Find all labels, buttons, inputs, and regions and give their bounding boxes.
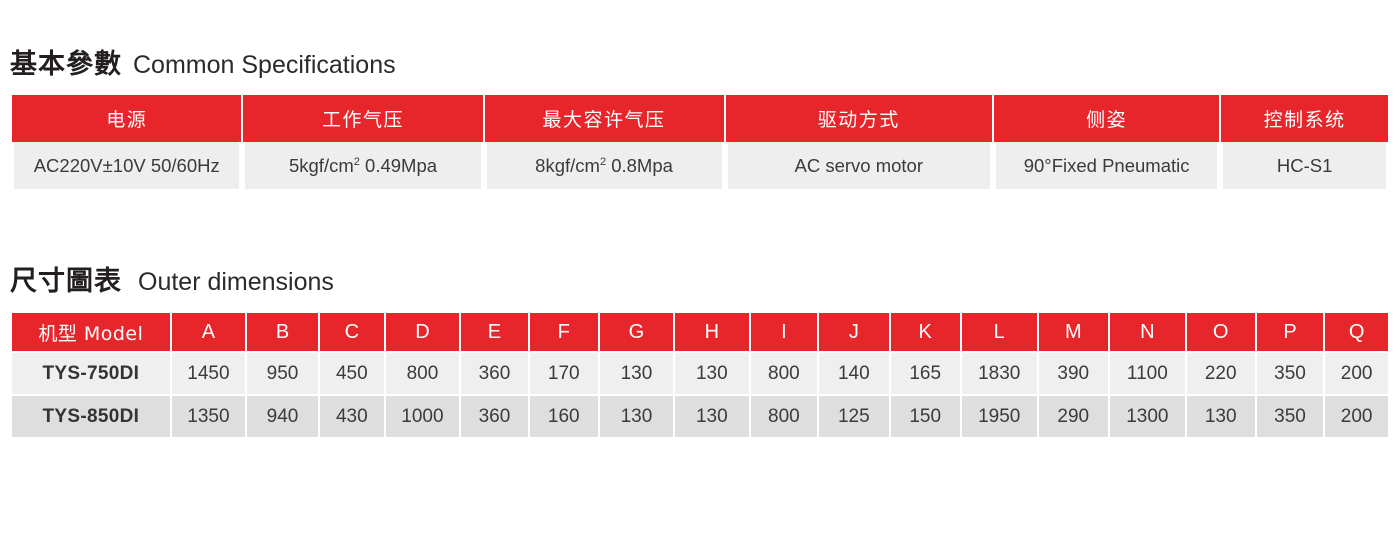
dimensions-column-header-C: C <box>320 313 384 351</box>
dimensions-heading-cn: 尺寸圖表 <box>10 259 122 298</box>
dimensions-column-header-Q: Q <box>1325 313 1388 351</box>
dimensions-column-header-J: J <box>819 313 888 351</box>
dimensions-value-cell: 1000 <box>386 396 459 437</box>
specifications-heading: 基本參數 Common Specifications <box>10 42 1390 81</box>
dimensions-column-header-I: I <box>751 313 818 351</box>
spec-column-header: 最大容许气压 <box>485 95 724 142</box>
dimensions-value-cell: 200 <box>1325 353 1388 394</box>
specifications-heading-cn: 基本參數 <box>10 42 122 81</box>
dimensions-table-row: TYS-850DI1350940430100036016013013080012… <box>12 396 1388 437</box>
dimensions-column-header-L: L <box>962 313 1037 351</box>
dimensions-value-cell: 940 <box>247 396 318 437</box>
dimensions-model-cell: TYS-750DI <box>12 353 170 394</box>
dimensions-column-header-A: A <box>172 313 245 351</box>
dimensions-value-cell: 1450 <box>172 353 245 394</box>
dimensions-value-cell: 430 <box>320 396 384 437</box>
dimensions-value-cell: 200 <box>1325 396 1388 437</box>
spec-column-header: 侧姿 <box>994 95 1219 142</box>
dimensions-value-cell: 390 <box>1039 353 1108 394</box>
dimensions-value-cell: 290 <box>1039 396 1108 437</box>
dimensions-column-header-E: E <box>461 313 528 351</box>
dimensions-value-cell: 1830 <box>962 353 1037 394</box>
dimensions-value-cell: 150 <box>891 396 960 437</box>
dimensions-value-cell: 130 <box>675 396 748 437</box>
dimensions-value-cell: 350 <box>1257 396 1324 437</box>
spec-value-cell: AC servo motor <box>726 142 992 189</box>
dimensions-column-header-G: G <box>600 313 673 351</box>
dimensions-table-row: TYS-750DI1450950450800360170130130800140… <box>12 353 1388 394</box>
dimensions-value-cell: 450 <box>320 353 384 394</box>
dimensions-value-cell: 130 <box>600 396 673 437</box>
dimensions-value-cell: 130 <box>600 353 673 394</box>
dimensions-column-header-F: F <box>530 313 598 351</box>
dimensions-value-cell: 350 <box>1257 353 1324 394</box>
dimensions-value-cell: 1950 <box>962 396 1037 437</box>
spec-value-cell: AC220V±10V 50/60Hz <box>12 142 241 189</box>
dimensions-column-header-D: D <box>386 313 459 351</box>
spec-column-header: 控制系统 <box>1221 95 1388 142</box>
spec-value-cell: 5kgf/cm2 0.49Mpa <box>243 142 482 189</box>
dimensions-column-header-K: K <box>891 313 960 351</box>
dimensions-value-cell: 220 <box>1187 353 1255 394</box>
dimensions-value-cell: 360 <box>461 396 528 437</box>
dimensions-value-cell: 125 <box>819 396 888 437</box>
dimensions-value-cell: 800 <box>751 396 818 437</box>
dimensions-value-cell: 360 <box>461 353 528 394</box>
dimensions-value-cell: 140 <box>819 353 888 394</box>
specifications-heading-en: Common Specifications <box>133 51 396 80</box>
dimensions-value-cell: 1100 <box>1110 353 1185 394</box>
dimensions-heading: 尺寸圖表 Outer dimensions <box>10 259 1390 298</box>
outer-dimensions-table: 机型 ModelABCDEFGHIJKLMNOPQ TYS-750DI14509… <box>10 311 1390 439</box>
specification-sheet: 基本參數 Common Specifications 电源工作气压最大容许气压驱… <box>0 42 1400 543</box>
dimensions-column-header-B: B <box>247 313 318 351</box>
dimensions-column-header-N: N <box>1110 313 1185 351</box>
dimensions-heading-en: Outer dimensions <box>138 268 334 297</box>
dimensions-value-cell: 160 <box>530 396 598 437</box>
dimensions-column-header-H: H <box>675 313 748 351</box>
dimensions-value-cell: 1300 <box>1110 396 1185 437</box>
dimensions-value-cell: 800 <box>751 353 818 394</box>
spec-column-header: 电源 <box>12 95 241 142</box>
dimensions-value-cell: 800 <box>386 353 459 394</box>
dimensions-model-header: 机型 Model <box>12 313 170 351</box>
spec-value-cell: HC-S1 <box>1221 142 1388 189</box>
spec-header-row: 电源工作气压最大容许气压驱动方式侧姿控制系统 <box>12 95 1388 142</box>
dimensions-value-cell: 170 <box>530 353 598 394</box>
dimensions-column-header-O: O <box>1187 313 1255 351</box>
dimensions-value-cell: 950 <box>247 353 318 394</box>
spec-column-header: 驱动方式 <box>726 95 992 142</box>
spec-column-header: 工作气压 <box>243 95 482 142</box>
dimensions-column-header-P: P <box>1257 313 1324 351</box>
spec-value-row: AC220V±10V 50/60Hz5kgf/cm2 0.49Mpa8kgf/c… <box>12 142 1388 189</box>
dimensions-value-cell: 130 <box>1187 396 1255 437</box>
common-specifications-table: 电源工作气压最大容许气压驱动方式侧姿控制系统 AC220V±10V 50/60H… <box>10 95 1390 189</box>
dimensions-value-cell: 130 <box>675 353 748 394</box>
dimensions-column-header-M: M <box>1039 313 1108 351</box>
dimensions-value-cell: 165 <box>891 353 960 394</box>
spec-value-cell: 8kgf/cm2 0.8Mpa <box>485 142 724 189</box>
dimensions-model-cell: TYS-850DI <box>12 396 170 437</box>
spec-value-cell: 90°Fixed Pneumatic <box>994 142 1219 189</box>
dimensions-header-row: 机型 ModelABCDEFGHIJKLMNOPQ <box>12 313 1388 351</box>
dimensions-value-cell: 1350 <box>172 396 245 437</box>
